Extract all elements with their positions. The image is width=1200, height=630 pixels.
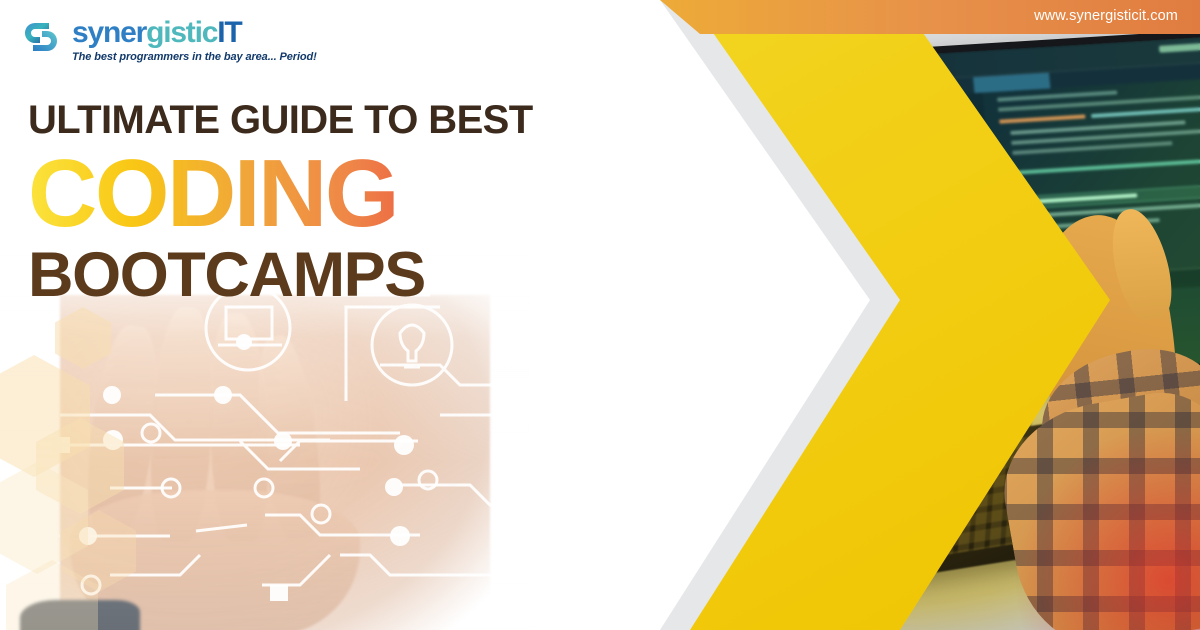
website-url[interactable]: www.synergisticit.com: [1034, 8, 1178, 24]
headline-block: ULTIMATE GUIDE TO BEST CODING BOOTCAMPS: [28, 100, 548, 307]
red-corner-glow: [1000, 400, 1200, 630]
synergistic-s-mark-icon: [18, 14, 64, 60]
headline-main: CODING: [28, 146, 548, 242]
brand-logo[interactable]: synergisticIT The best programmers in th…: [18, 14, 317, 63]
banner-canvas: www.synergisticit.com: [0, 0, 1200, 630]
brand-name: synergisticIT: [72, 18, 317, 48]
brand-name-part2: gistic: [146, 16, 217, 49]
brand-name-part1: syner: [72, 16, 146, 49]
brand-name-part3: IT: [217, 16, 241, 49]
headline-sub: BOOTCAMPS: [28, 244, 548, 307]
headline-kicker: ULTIMATE GUIDE TO BEST: [28, 100, 548, 140]
brand-wordmark: synergisticIT The best programmers in th…: [72, 14, 317, 63]
left-circuit-artwork: [0, 255, 530, 630]
brand-tagline: The best programmers in the bay area... …: [72, 51, 317, 63]
